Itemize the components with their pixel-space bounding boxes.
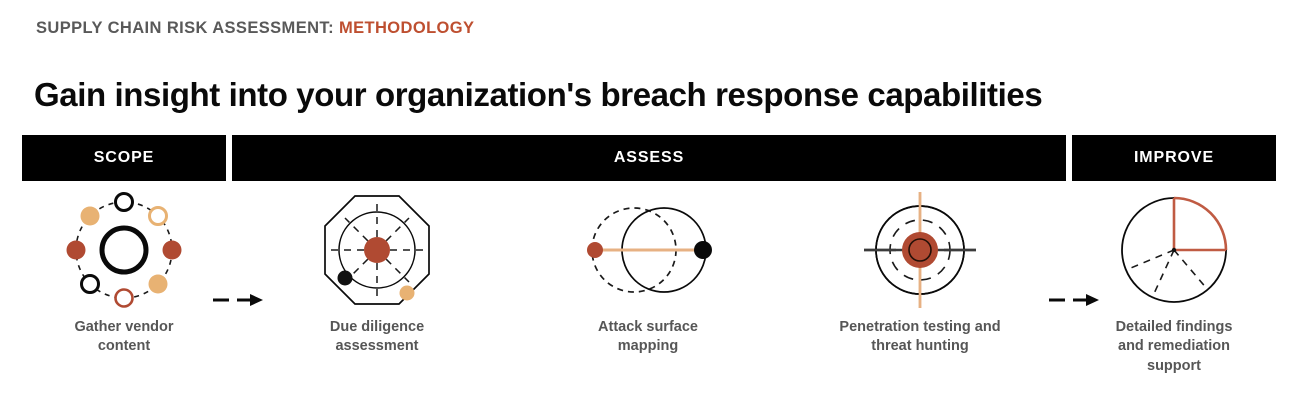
step-caption-line-1: Due diligence — [277, 318, 477, 337]
step-caption: Attack surface mapping — [548, 318, 748, 357]
step-gather-vendor-content: Gather vendor content — [22, 186, 226, 357]
step-caption-line-2: content — [24, 337, 224, 356]
step-caption-line-1: Attack surface — [548, 318, 748, 337]
step-row: Gather vendor content Due diligence — [0, 186, 1304, 412]
eyebrow-accent: METHODOLOGY — [339, 19, 474, 37]
step-caption-line-1: Gather vendor — [24, 318, 224, 337]
eyebrow-label: SUPPLY CHAIN RISK ASSESSMENT: METHODOLOG… — [36, 19, 474, 38]
octagon-radar-icon — [307, 186, 447, 314]
step-caption-line-3: support — [1074, 357, 1274, 376]
phase-bar-assess-label: ASSESS — [614, 149, 684, 167]
phase-bar-scope: SCOPE — [22, 135, 226, 181]
pie-chart-icon — [1104, 186, 1244, 314]
overlapping-circles-icon — [578, 186, 718, 314]
phase-bar-assess: ASSESS — [232, 135, 1066, 181]
step-due-diligence-assessment: Due diligence assessment — [275, 186, 479, 357]
arrow-right-icon — [212, 292, 264, 308]
phase-bar-improve-label: IMPROVE — [1134, 149, 1214, 167]
step-caption-line-2: threat hunting — [820, 337, 1020, 356]
step-detailed-findings-remediation-support: Detailed findings and remediation suppor… — [1072, 186, 1276, 376]
crosshair-target-icon — [850, 186, 990, 314]
phase-banner-row: SCOPE ASSESS IMPROVE — [0, 135, 1304, 181]
arrow-right-icon — [1048, 292, 1100, 308]
phase-bar-scope-label: SCOPE — [94, 149, 155, 167]
eyebrow-prefix: SUPPLY CHAIN RISK ASSESSMENT: — [36, 19, 339, 37]
step-attack-surface-mapping: Attack surface mapping — [546, 186, 750, 357]
step-caption-line-2: and remediation — [1074, 337, 1274, 356]
phase-bar-improve: IMPROVE — [1072, 135, 1276, 181]
step-penetration-testing-threat-hunting: Penetration testing and threat hunting — [818, 186, 1022, 357]
step-caption: Penetration testing and threat hunting — [820, 318, 1020, 357]
step-caption-line-1: Detailed findings — [1074, 318, 1274, 337]
step-caption: Due diligence assessment — [277, 318, 477, 357]
step-caption-line-1: Penetration testing and — [820, 318, 1020, 337]
step-caption: Detailed findings and remediation suppor… — [1074, 318, 1274, 376]
step-caption-line-2: mapping — [548, 337, 748, 356]
step-caption: Gather vendor content — [24, 318, 224, 357]
step-caption-line-2: assessment — [277, 337, 477, 356]
vendor-network-icon — [54, 186, 194, 314]
page-title: Gain insight into your organization's br… — [34, 76, 1042, 114]
